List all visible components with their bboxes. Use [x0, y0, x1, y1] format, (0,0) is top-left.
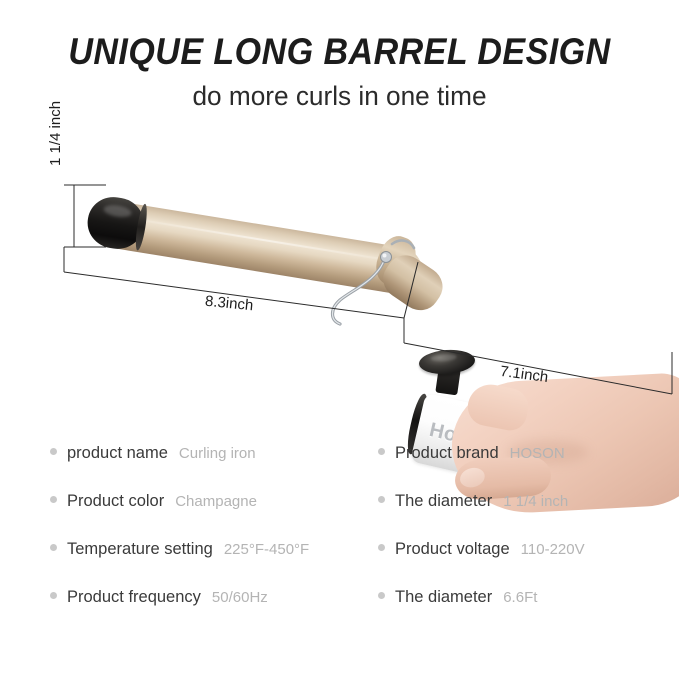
- clamp-lever-disc: [418, 348, 476, 376]
- spec-row: product name Curling iron: [50, 444, 380, 492]
- spec-row: Product brand HOSON: [378, 444, 678, 492]
- spec-label: product name: [67, 444, 168, 463]
- spec-value: HOSON: [510, 445, 565, 462]
- spec-label: Temperature setting: [67, 540, 213, 559]
- bullet-icon: [378, 496, 385, 503]
- spec-value: 1 1/4 inch: [503, 493, 568, 510]
- page-subtitle: do more curls in one time: [10, 80, 669, 112]
- spec-row: Product voltage 110-220V: [378, 540, 678, 588]
- spec-column-left: product name Curling iron Product color …: [50, 444, 380, 636]
- barrel-tip-cap: [84, 193, 147, 252]
- spec-row: Product frequency 50/60Hz: [50, 588, 380, 636]
- spec-label: Product brand: [395, 444, 499, 463]
- spec-row: Temperature setting 225°F-450°F: [50, 540, 380, 588]
- spec-label: Product color: [67, 492, 164, 511]
- spec-value: 50/60Hz: [212, 589, 268, 606]
- bullet-icon: [50, 448, 57, 455]
- spec-value: Curling iron: [179, 445, 256, 462]
- bullet-icon: [50, 496, 57, 503]
- product-image: Hoson® 350: [0, 140, 679, 430]
- page-title: UNIQUE LONG BARREL DESIGN: [27, 30, 652, 74]
- spec-value: 6.6Ft: [503, 589, 537, 606]
- spec-column-right: Product brand HOSON The diameter 1 1/4 i…: [378, 444, 678, 636]
- spec-label: Product frequency: [67, 588, 201, 607]
- bullet-icon: [50, 544, 57, 551]
- bullet-icon: [378, 592, 385, 599]
- spec-value: 110-220V: [521, 541, 585, 558]
- lever-gloss: [430, 353, 456, 362]
- bullet-icon: [50, 592, 57, 599]
- spec-label: The diameter: [395, 588, 492, 607]
- spec-row: The diameter 6.6Ft: [378, 588, 678, 636]
- spec-label: The diameter: [395, 492, 492, 511]
- header: UNIQUE LONG BARREL DESIGN do more curls …: [0, 30, 679, 112]
- tip-gloss: [103, 203, 132, 218]
- barrel-highlight: [123, 216, 403, 263]
- bullet-icon: [378, 448, 385, 455]
- spec-row: The diameter 1 1/4 inch: [378, 492, 678, 540]
- spec-label: Product voltage: [395, 540, 510, 559]
- spec-row: Product color Champagne: [50, 492, 380, 540]
- bullet-icon: [378, 544, 385, 551]
- spec-value: 225°F-450°F: [224, 541, 309, 558]
- product-infographic: UNIQUE LONG BARREL DESIGN do more curls …: [0, 0, 679, 679]
- spec-value: Champagne: [175, 493, 257, 510]
